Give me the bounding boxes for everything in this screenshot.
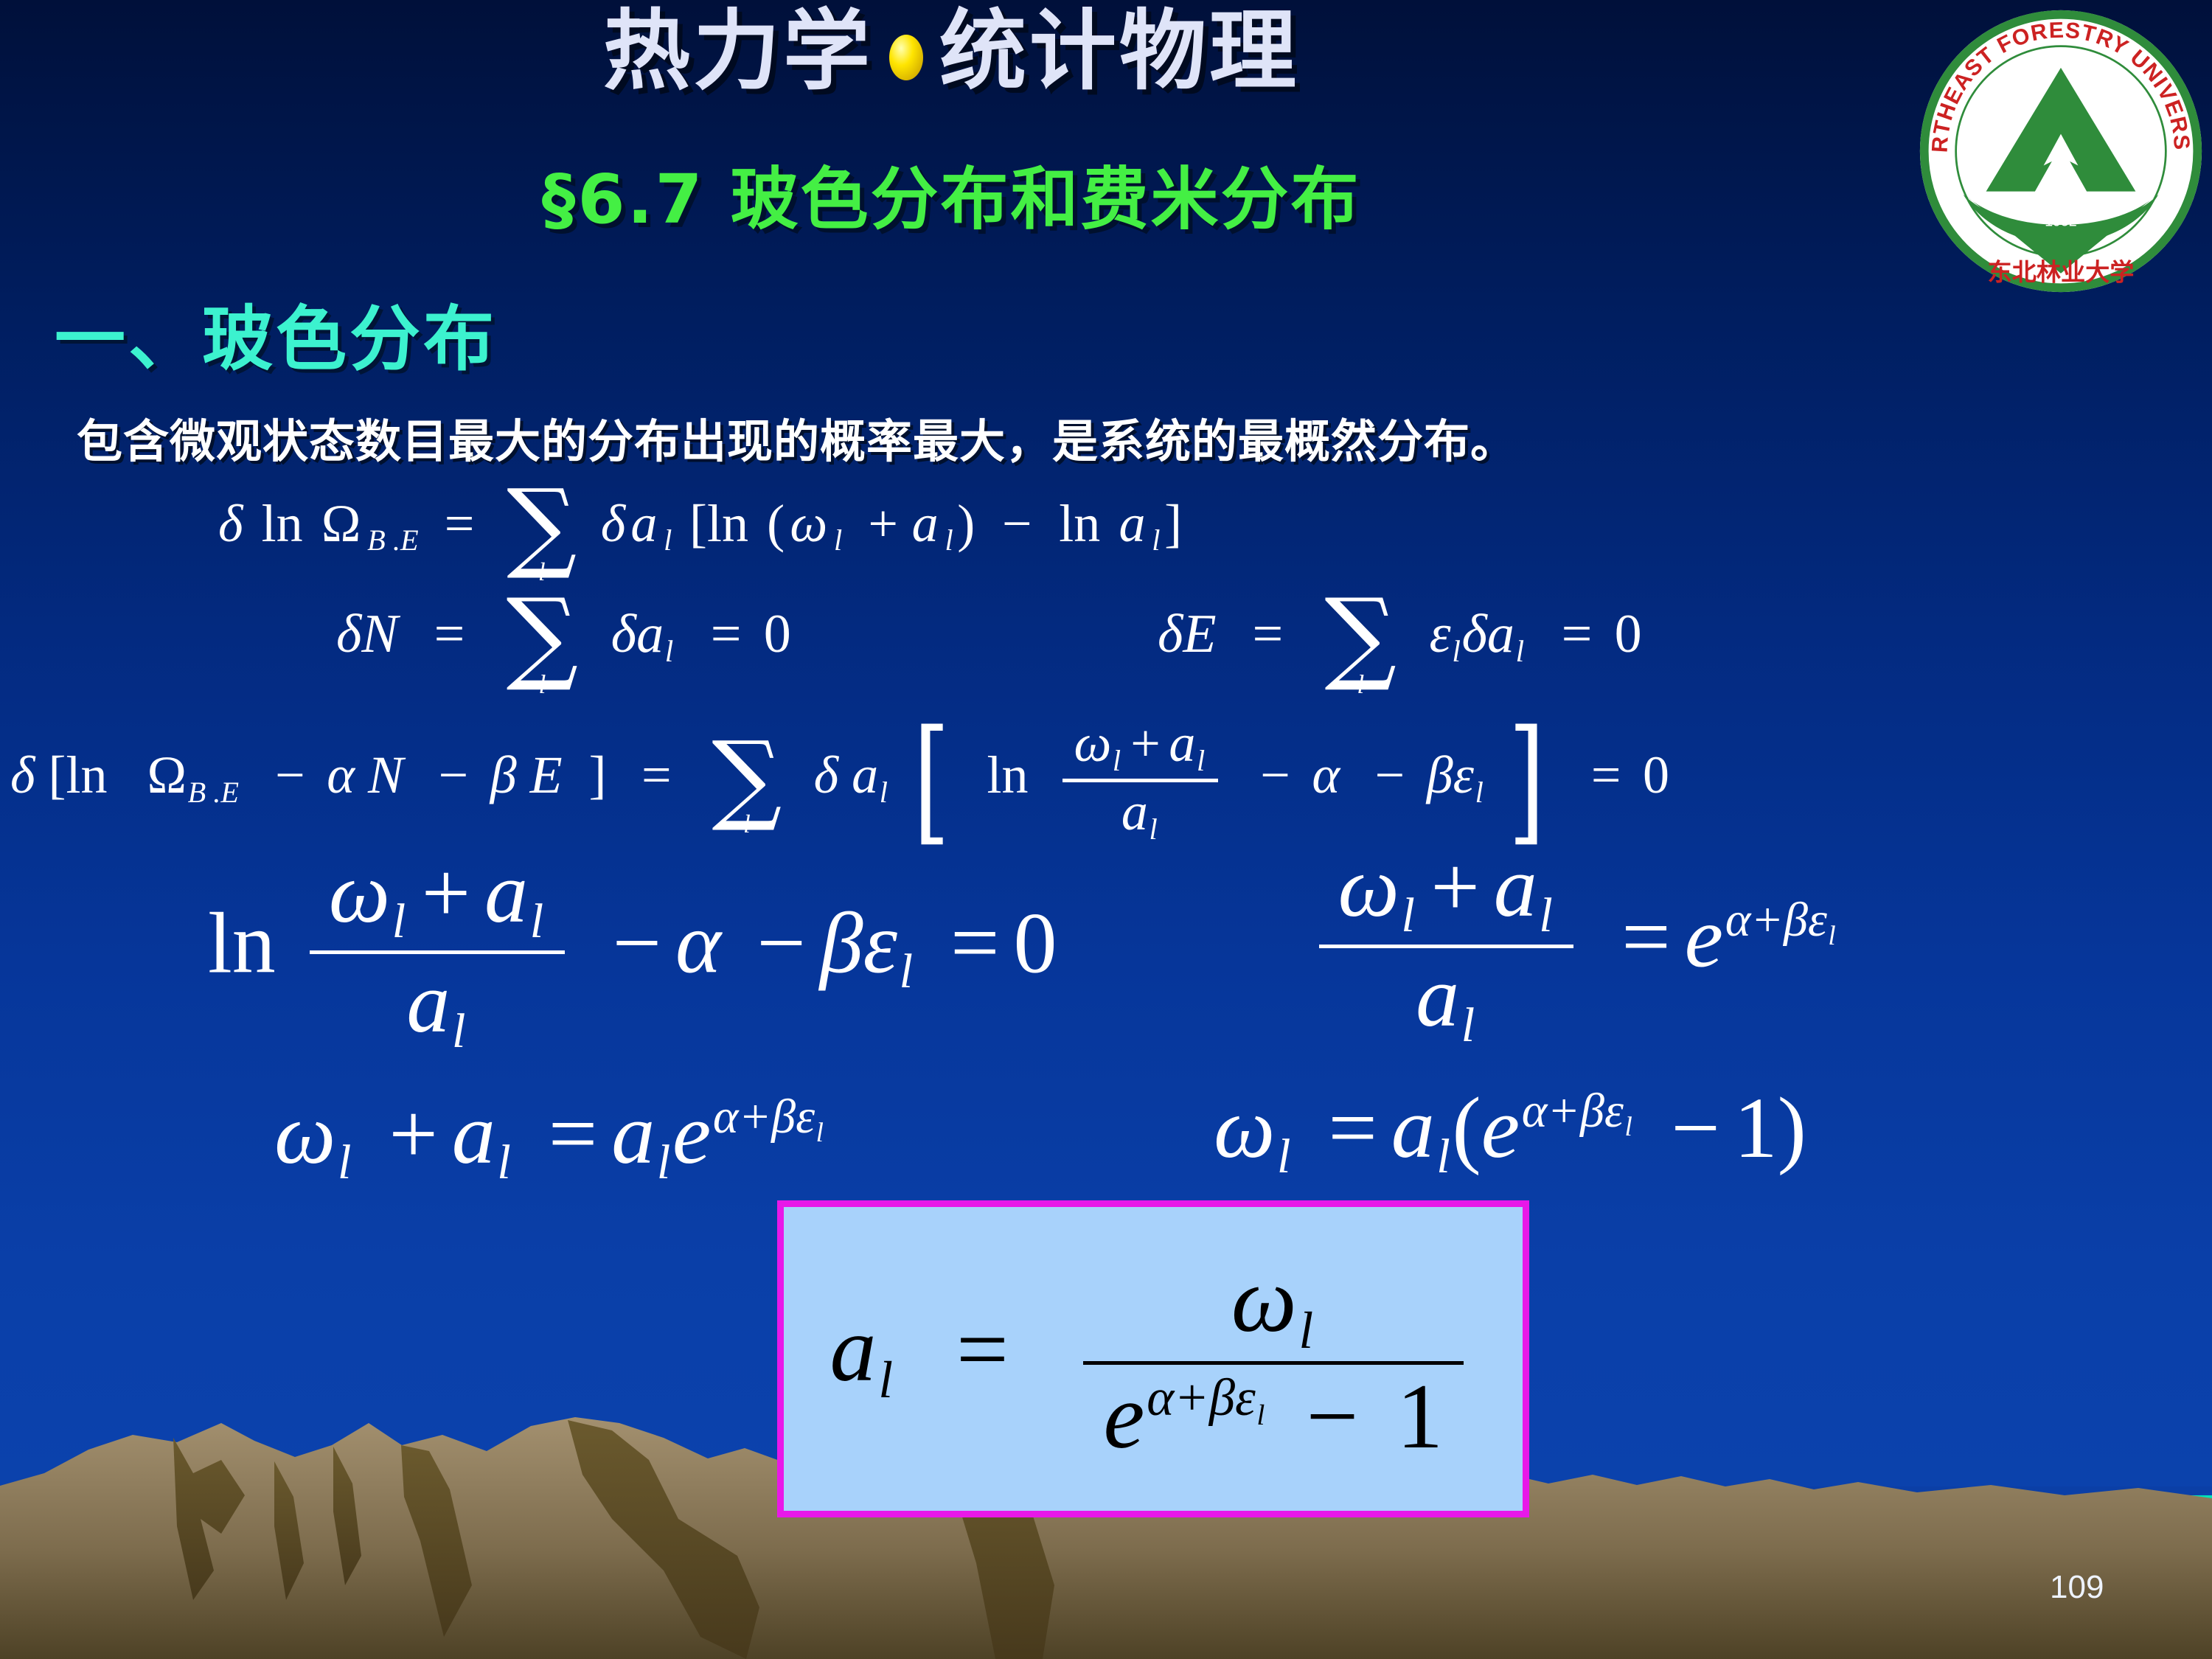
bose-einstein-distribution-box: al = ωl eα+βεl − 1	[777, 1200, 1529, 1517]
title-right: 统计物理	[939, 0, 1299, 102]
equation-omega-solved: ωl =al(eα+βεl −1)	[1214, 1078, 1806, 1185]
slide-title: 热力学统计物理	[0, 6, 1902, 97]
equation-variation-ln-omega: δ ln ΩB .E = ∑l δal [ln (ωl +al) − ln al…	[218, 487, 1187, 583]
page-number: 109	[2050, 1569, 2104, 1606]
equation-ratio-equals-exponential: ωl+al al =eα+βεl	[1307, 841, 1839, 1051]
section-body-text: 包含微观状态数目最大的分布出现的概率最大，是系统的最概然分布。	[77, 404, 1517, 470]
equation-bose-einstein-distribution: al = ωl eα+βεl − 1	[830, 1251, 1477, 1466]
equation-log-ratio: ln ωl+al al −α −βεl =0	[208, 846, 1057, 1057]
yellow-bullet-icon	[889, 35, 923, 80]
logo-chinese-text: 东北林业大学	[1988, 257, 2135, 286]
slide: NORTHEAST FORESTRY UNIVERSITY 1952 东北林业大…	[0, 0, 2212, 1659]
equation-lagrange-variation: δ [ln ΩB .E − α N − β E ] = ∑l δ al [ ln…	[10, 702, 1669, 859]
equation-omega-plus-a: ωl +al =aleα+βεl	[274, 1084, 827, 1191]
section-heading: 一、玻色分布	[55, 282, 497, 384]
logo-year: 1952	[2045, 213, 2076, 229]
title-left: 热力学	[603, 0, 873, 102]
equation-particle-number-constraint: δN = ∑l δal = 0	[336, 596, 791, 695]
slide-subtitle: §6.7 玻色分布和费米分布	[0, 145, 1902, 243]
university-logo: NORTHEAST FORESTRY UNIVERSITY 1952 东北林业大…	[1917, 7, 2205, 295]
equation-energy-constraint: δE = ∑l εlδal = 0	[1158, 596, 1642, 695]
